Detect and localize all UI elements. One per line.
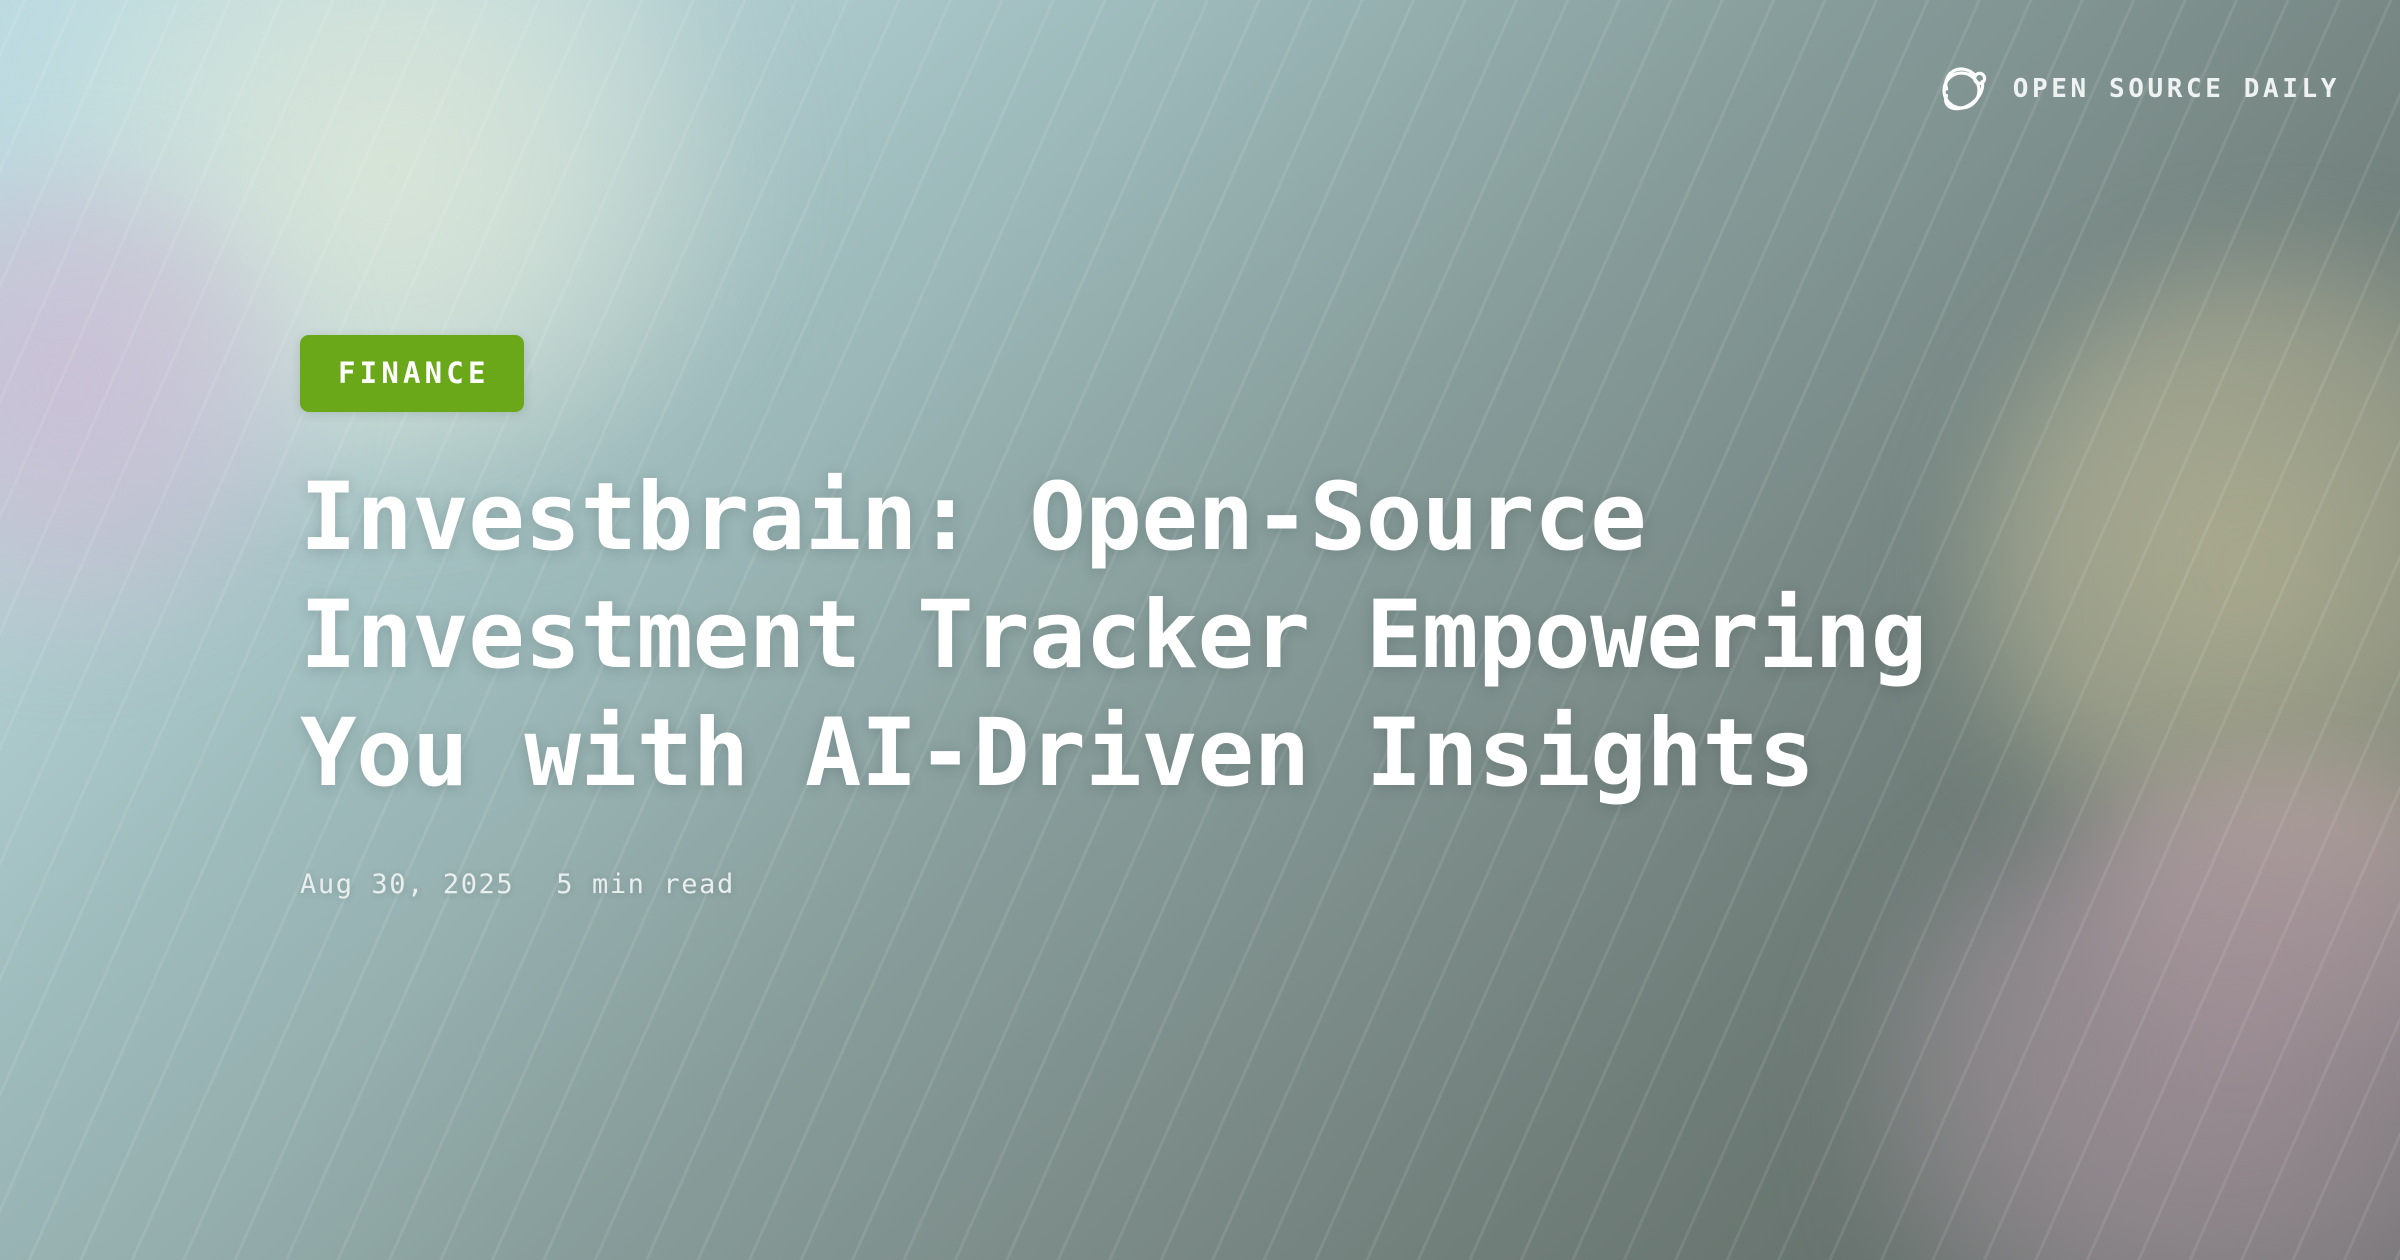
brand-name: OPEN SOURCE DAILY — [2013, 74, 2340, 104]
planet-icon — [1937, 62, 1991, 116]
publish-date: Aug 30, 2025 — [300, 869, 514, 900]
article-hero-banner: OPEN SOURCE DAILY FINANCE Investbrain: O… — [0, 0, 2400, 1260]
read-time: 5 min read — [556, 869, 735, 900]
article-title: Investbrain: Open-Source Investment Trac… — [300, 459, 2020, 813]
hero-content: FINANCE Investbrain: Open-Source Investm… — [300, 335, 2020, 900]
brand-logo[interactable]: OPEN SOURCE DAILY — [1937, 62, 2340, 116]
category-badge[interactable]: FINANCE — [300, 335, 524, 412]
article-meta: Aug 30, 2025 5 min read — [300, 869, 2020, 900]
